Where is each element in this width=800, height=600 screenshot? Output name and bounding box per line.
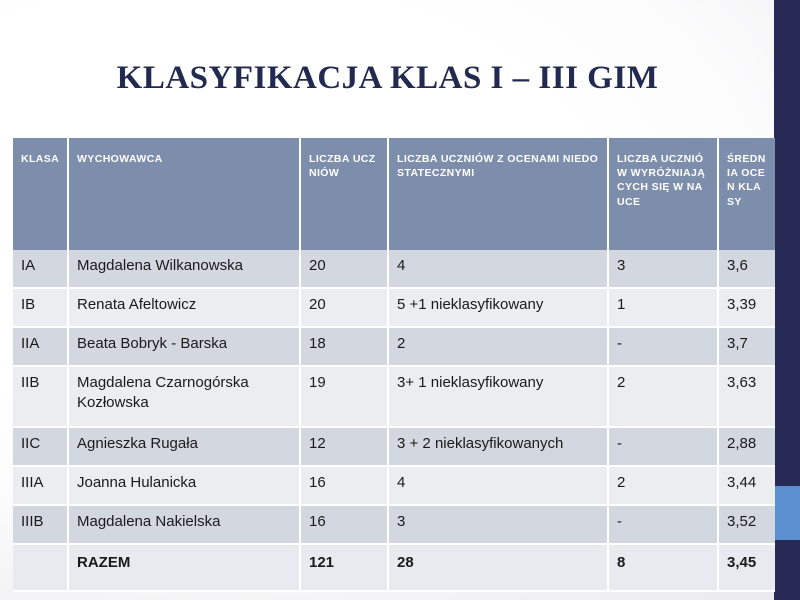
cell-wyrozniajacy: 2 xyxy=(609,367,719,428)
cell-oceny-niedostateczne: 2 xyxy=(389,328,609,367)
table-row: IIIA Joanna Hulanicka 16 4 2 3,44 xyxy=(13,467,775,506)
cell-oceny-niedostateczne: 4 xyxy=(389,250,609,289)
slide-canvas: KLASYFIKACJA KLAS I – III GIM KLASA WYCH… xyxy=(0,0,800,600)
table-row: IA Magdalena Wilkanowska 20 4 3 3,6 xyxy=(13,250,775,289)
cell-klasa: IIC xyxy=(13,428,69,467)
cell-total-oceny-niedostateczne: 28 xyxy=(389,545,609,592)
cell-wyrozniajacy: 3 xyxy=(609,250,719,289)
cell-klasa xyxy=(13,545,69,592)
cell-klasa: IB xyxy=(13,289,69,328)
cell-klasa: IIB xyxy=(13,367,69,428)
table-header: KLASA WYCHOWAWCA LICZBA UCZNIÓW LICZBA U… xyxy=(13,138,775,250)
cell-total-srednia: 3,45 xyxy=(719,545,775,592)
cell-klasa: IIIA xyxy=(13,467,69,506)
cell-oceny-niedostateczne: 3 xyxy=(389,506,609,545)
grades-table-container: KLASA WYCHOWAWCA LICZBA UCZNIÓW LICZBA U… xyxy=(13,138,775,592)
table-row: IIA Beata Bobryk - Barska 18 2 - 3,7 xyxy=(13,328,775,367)
cell-wyrozniajacy: 2 xyxy=(609,467,719,506)
column-header-klasa: KLASA xyxy=(13,138,69,250)
table-row: IIIB Magdalena Nakielska 16 3 - 3,52 xyxy=(13,506,775,545)
grades-table: KLASA WYCHOWAWCA LICZBA UCZNIÓW LICZBA U… xyxy=(13,138,775,592)
table-total-row: RAZEM 121 28 8 3,45 xyxy=(13,545,775,592)
cell-klasa: IIIB xyxy=(13,506,69,545)
cell-srednia: 3,63 xyxy=(719,367,775,428)
cell-liczba-uczniow: 20 xyxy=(301,289,389,328)
cell-wychowawca: Beata Bobryk - Barska xyxy=(69,328,301,367)
header-row: KLASA WYCHOWAWCA LICZBA UCZNIÓW LICZBA U… xyxy=(13,138,775,250)
cell-srednia: 3,44 xyxy=(719,467,775,506)
cell-liczba-uczniow: 16 xyxy=(301,467,389,506)
cell-oceny-niedostateczne: 5 +1 nieklasyfikowany xyxy=(389,289,609,328)
cell-wychowawca: Renata Afeltowicz xyxy=(69,289,301,328)
cell-wyrozniajacy: - xyxy=(609,328,719,367)
cell-klasa: IA xyxy=(13,250,69,289)
cell-wychowawca: Agnieszka Rugała xyxy=(69,428,301,467)
column-header-liczba-uczniow: LICZBA UCZNIÓW xyxy=(301,138,389,250)
cell-srednia: 3,39 xyxy=(719,289,775,328)
cell-srednia: 3,7 xyxy=(719,328,775,367)
cell-oceny-niedostateczne: 4 xyxy=(389,467,609,506)
cell-liczba-uczniow: 19 xyxy=(301,367,389,428)
cell-wychowawca: Magdalena Czarnogórska Kozłowska xyxy=(69,367,301,428)
table-row: IB Renata Afeltowicz 20 5 +1 nieklasyfik… xyxy=(13,289,775,328)
blue-accent-square xyxy=(773,486,800,540)
table-row: IIC Agnieszka Rugała 12 3 + 2 nieklasyfi… xyxy=(13,428,775,467)
cell-total-label: RAZEM xyxy=(69,545,301,592)
cell-liczba-uczniow: 12 xyxy=(301,428,389,467)
cell-wychowawca: Joanna Hulanicka xyxy=(69,467,301,506)
column-header-oceny-niedostateczne: LICZBA UCZNIÓW Z OCENAMI NIEDOSTATECZNYM… xyxy=(389,138,609,250)
cell-wychowawca: Magdalena Wilkanowska xyxy=(69,250,301,289)
cell-srednia: 3,52 xyxy=(719,506,775,545)
cell-liczba-uczniow: 16 xyxy=(301,506,389,545)
cell-total-liczba-uczniow: 121 xyxy=(301,545,389,592)
table-row: IIB Magdalena Czarnogórska Kozłowska 19 … xyxy=(13,367,775,428)
cell-srednia: 2,88 xyxy=(719,428,775,467)
column-header-srednia-ocen: ŚREDNIA OCEN KLASY xyxy=(719,138,775,250)
cell-liczba-uczniow: 18 xyxy=(301,328,389,367)
cell-wyrozniajacy: - xyxy=(609,506,719,545)
cell-oceny-niedostateczne: 3 + 2 nieklasyfikowanych xyxy=(389,428,609,467)
cell-wyrozniajacy: 1 xyxy=(609,289,719,328)
column-header-wychowawca: WYCHOWAWCA xyxy=(69,138,301,250)
cell-total-wyrozniajacy: 8 xyxy=(609,545,719,592)
column-header-wyrozniajacy: LICZBA UCZNIÓW WYRÓŻNIAJĄCYCH SIĘ W NAUC… xyxy=(609,138,719,250)
cell-srednia: 3,6 xyxy=(719,250,775,289)
table-body: IA Magdalena Wilkanowska 20 4 3 3,6 IB R… xyxy=(13,250,775,592)
cell-wychowawca: Magdalena Nakielska xyxy=(69,506,301,545)
cell-liczba-uczniow: 20 xyxy=(301,250,389,289)
cell-klasa: IIA xyxy=(13,328,69,367)
page-title: KLASYFIKACJA KLAS I – III GIM xyxy=(0,60,775,97)
cell-oceny-niedostateczne: 3+ 1 nieklasyfikowany xyxy=(389,367,609,428)
cell-wyrozniajacy: - xyxy=(609,428,719,467)
